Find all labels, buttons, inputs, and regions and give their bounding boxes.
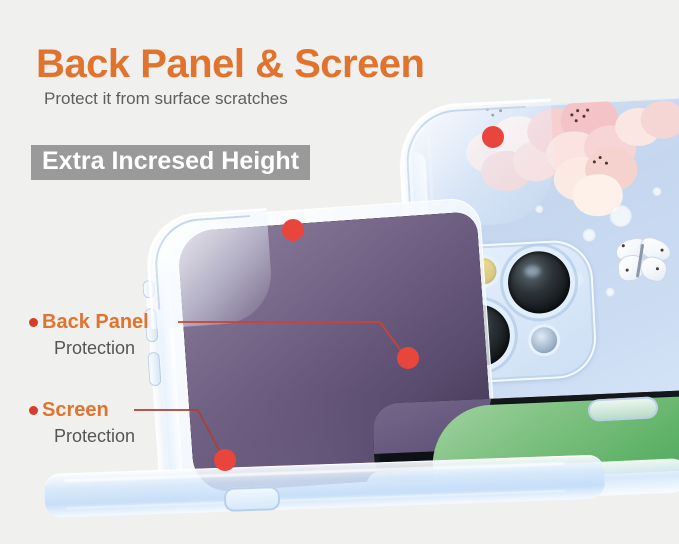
marker-top-right-case-lip	[482, 126, 504, 148]
camera-lens-top	[507, 250, 572, 315]
bullet-dot-icon	[29, 318, 38, 327]
marker-left-case-lip	[282, 219, 304, 241]
feature-badge: Extra Incresed Height	[31, 145, 310, 180]
callout-screen-sub: Protection	[54, 427, 135, 445]
callout-back-panel-label: Back Panel	[42, 311, 149, 333]
callout-back-panel-heading: Back Panel	[42, 312, 149, 332]
callout-back-panel: Back Panel Protection	[42, 312, 149, 357]
marker-back-panel-raised-edge	[397, 347, 419, 369]
callout-back-panel-sub: Protection	[54, 339, 149, 357]
case-clip-detail	[587, 396, 658, 422]
callout-screen-heading: Screen	[42, 400, 135, 420]
bokeh-dot	[582, 228, 596, 242]
page-subtitle: Protect it from surface scratches	[44, 89, 288, 109]
product-feature-image: Back Panel & Screen Protect it from surf…	[0, 0, 679, 544]
bokeh-dot	[609, 204, 632, 227]
callout-screen-label: Screen	[42, 399, 109, 421]
camera-sensor	[530, 327, 557, 354]
case-button-cutout	[224, 486, 281, 512]
callout-screen: Screen Protection	[42, 400, 135, 445]
butterfly-icon	[610, 233, 675, 294]
marker-screen-raised-edge	[214, 449, 236, 471]
bullet-dot-icon	[29, 406, 38, 415]
volume-button-down	[147, 352, 161, 387]
page-title: Back Panel & Screen	[36, 44, 425, 84]
